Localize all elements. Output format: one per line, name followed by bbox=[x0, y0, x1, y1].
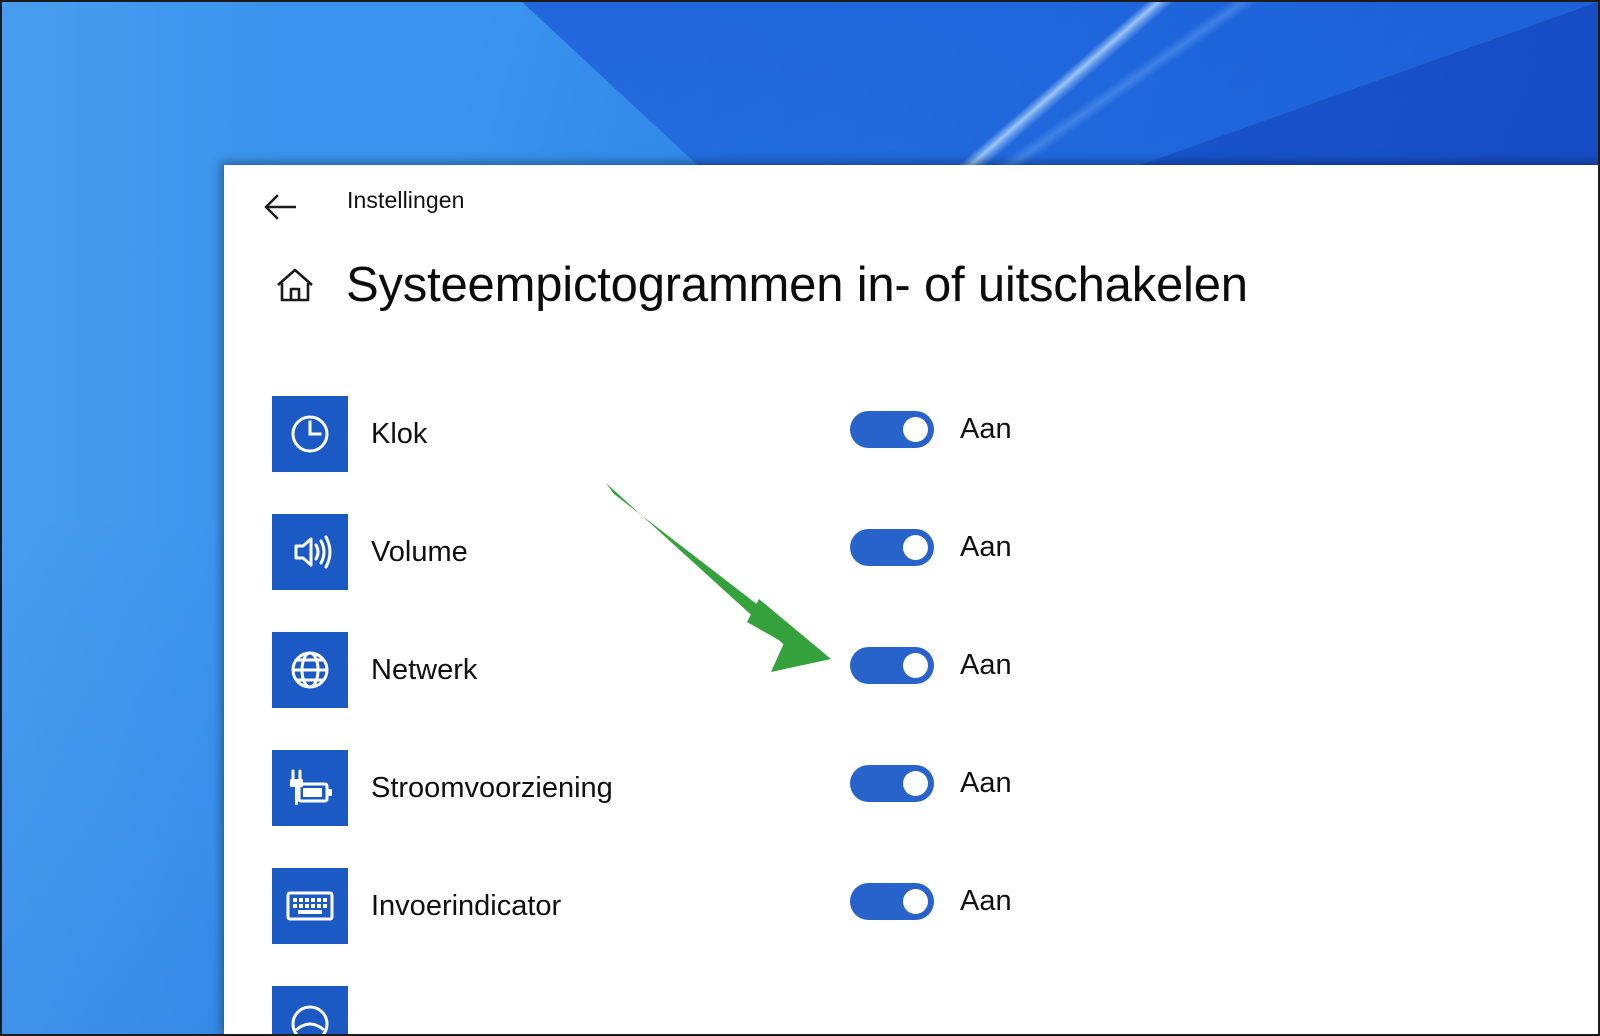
toggle-switch[interactable] bbox=[850, 529, 934, 566]
toggle-switch[interactable] bbox=[850, 647, 934, 684]
app-name-label: Instellingen bbox=[347, 187, 465, 214]
page-header: Systeempictogrammen in- of uitschakelen bbox=[224, 257, 1248, 313]
row-label: Stroomvoorziening bbox=[371, 772, 613, 805]
settings-window: Instellingen Systeempictogrammen in- of … bbox=[224, 165, 1600, 1036]
toggle-state-label: Aan bbox=[960, 649, 1012, 682]
toggle-knob bbox=[903, 417, 928, 442]
toggle-knob bbox=[903, 889, 928, 914]
toggle-switch[interactable] bbox=[850, 411, 934, 448]
table-row[interactable]: Invoerindicator Aan bbox=[224, 859, 1600, 977]
toggle-state-label: Aan bbox=[960, 531, 1012, 564]
toggle-group: Aan bbox=[850, 883, 1012, 920]
toggle-state-label: Aan bbox=[960, 767, 1012, 800]
table-row[interactable] bbox=[224, 977, 1600, 1036]
back-arrow-icon[interactable] bbox=[258, 185, 302, 229]
toggle-switch[interactable] bbox=[850, 883, 934, 920]
toggle-knob bbox=[903, 771, 928, 796]
toggle-knob bbox=[903, 653, 928, 678]
power-battery-icon bbox=[272, 750, 348, 826]
toggle-knob bbox=[903, 535, 928, 560]
toggle-switch[interactable] bbox=[850, 765, 934, 802]
clock-icon bbox=[272, 396, 348, 472]
toggle-group: Aan bbox=[850, 647, 1012, 684]
row-label: Netwerk bbox=[371, 654, 477, 687]
page-title: Systeempictogrammen in- of uitschakelen bbox=[346, 257, 1248, 313]
window-titlebar: Instellingen bbox=[224, 165, 1600, 247]
table-row[interactable]: Netwerk Aan bbox=[224, 623, 1600, 741]
wallpaper-bottom-shade bbox=[2, 514, 242, 1034]
network-globe-icon bbox=[272, 632, 348, 708]
toggle-group: Aan bbox=[850, 529, 1012, 566]
toggle-group: Aan bbox=[850, 411, 1012, 448]
system-icons-list: Klok Aan Volume bbox=[224, 387, 1600, 1036]
row-label: Volume bbox=[371, 536, 468, 569]
toggle-group: Aan bbox=[850, 765, 1012, 802]
screen: Instellingen Systeempictogrammen in- of … bbox=[0, 0, 1600, 1036]
table-row[interactable]: Klok Aan bbox=[224, 387, 1600, 505]
volume-speaker-icon bbox=[272, 514, 348, 590]
row-label: Invoerindicator bbox=[371, 890, 561, 923]
row-label: Klok bbox=[371, 418, 427, 451]
toggle-state-label: Aan bbox=[960, 413, 1012, 446]
home-icon[interactable] bbox=[272, 262, 318, 308]
table-row[interactable]: Volume Aan bbox=[224, 505, 1600, 623]
toggle-state-label: Aan bbox=[960, 885, 1012, 918]
table-row[interactable]: Stroomvoorziening Aan bbox=[224, 741, 1600, 859]
keyboard-icon bbox=[272, 868, 348, 944]
location-icon bbox=[272, 986, 348, 1036]
